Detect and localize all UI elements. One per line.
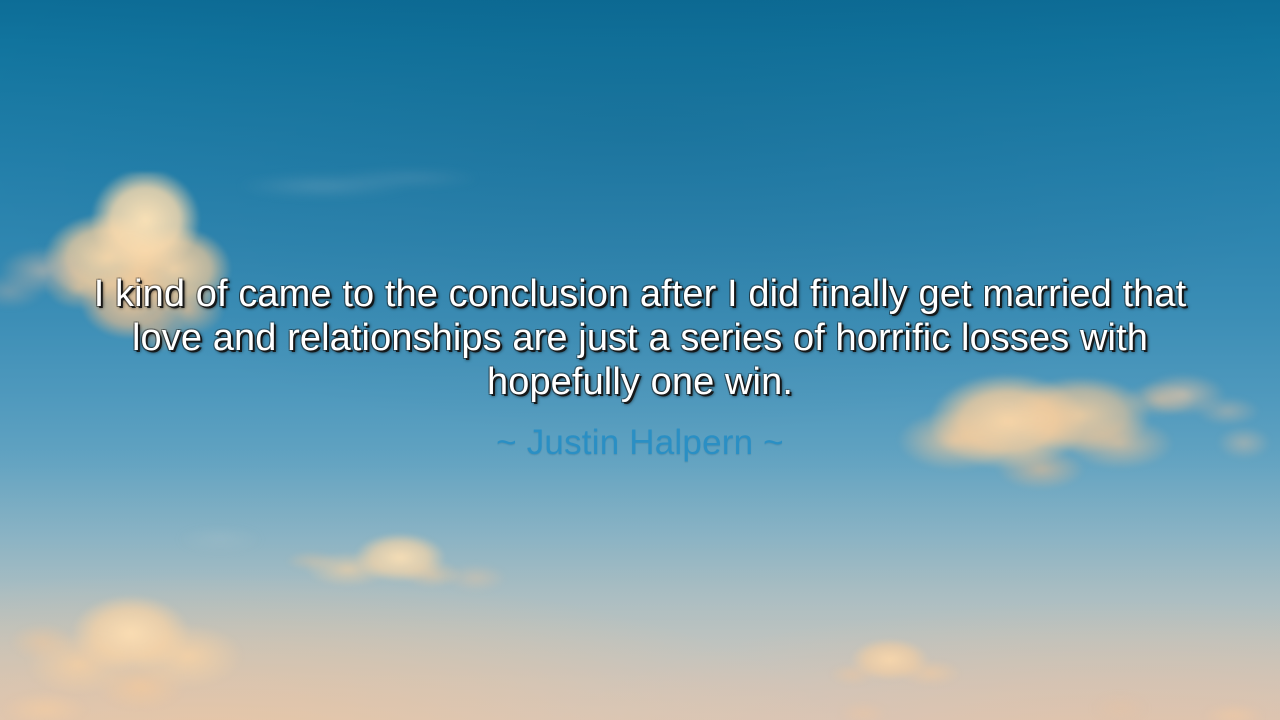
quote-text: I kind of came to the conclusion after I…: [70, 272, 1210, 404]
quote-author: ~ Justin Halpern ~: [70, 422, 1210, 464]
quote-image-canvas: I kind of came to the conclusion after I…: [0, 0, 1280, 720]
quote-block: I kind of came to the conclusion after I…: [0, 272, 1280, 464]
